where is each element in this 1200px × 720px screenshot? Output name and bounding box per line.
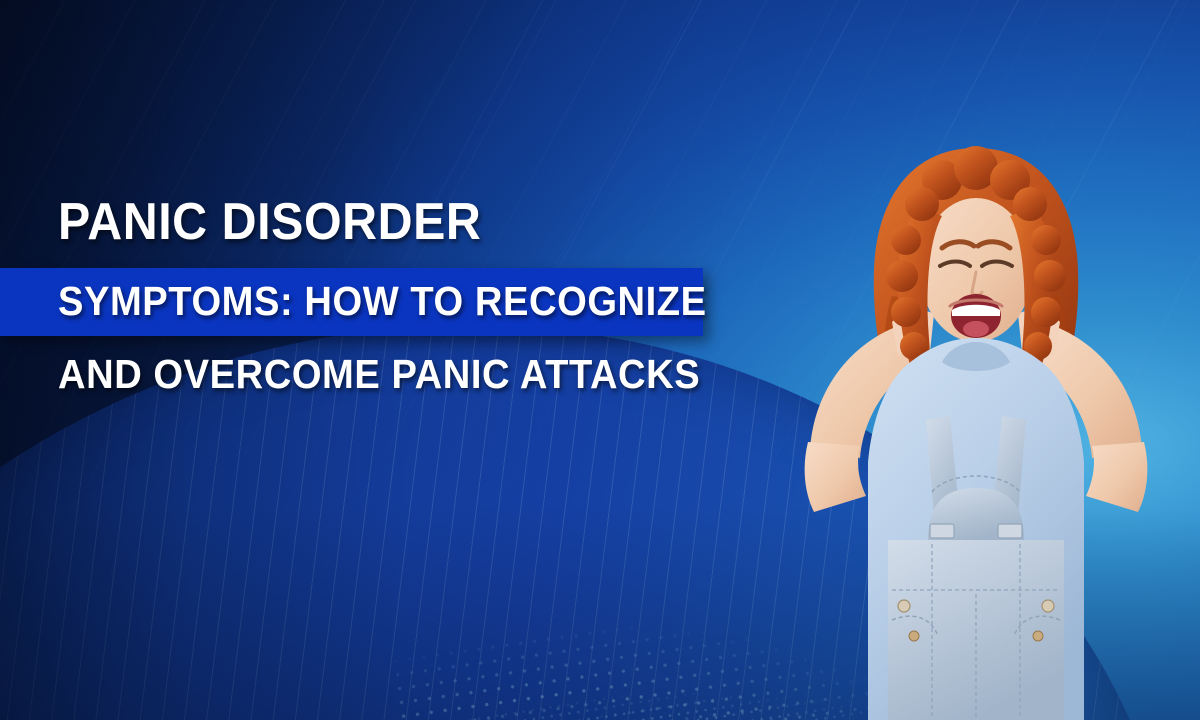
- screaming-woman-photo: [780, 120, 1200, 720]
- headline-line-2: SYMPTOMS: HOW TO RECOGNIZE: [58, 281, 658, 322]
- panic-disorder-hero-banner: PANIC DISORDER SYMPTOMS: HOW TO RECOGNIZ…: [0, 0, 1200, 720]
- headline-highlight-bar: SYMPTOMS: HOW TO RECOGNIZE: [0, 268, 703, 336]
- headline-line-1: PANIC DISORDER: [58, 196, 711, 268]
- headline-line-3: AND OVERCOME PANIC ATTACKS: [58, 354, 711, 395]
- headline-block: PANIC DISORDER SYMPTOMS: HOW TO RECOGNIZ…: [0, 196, 760, 395]
